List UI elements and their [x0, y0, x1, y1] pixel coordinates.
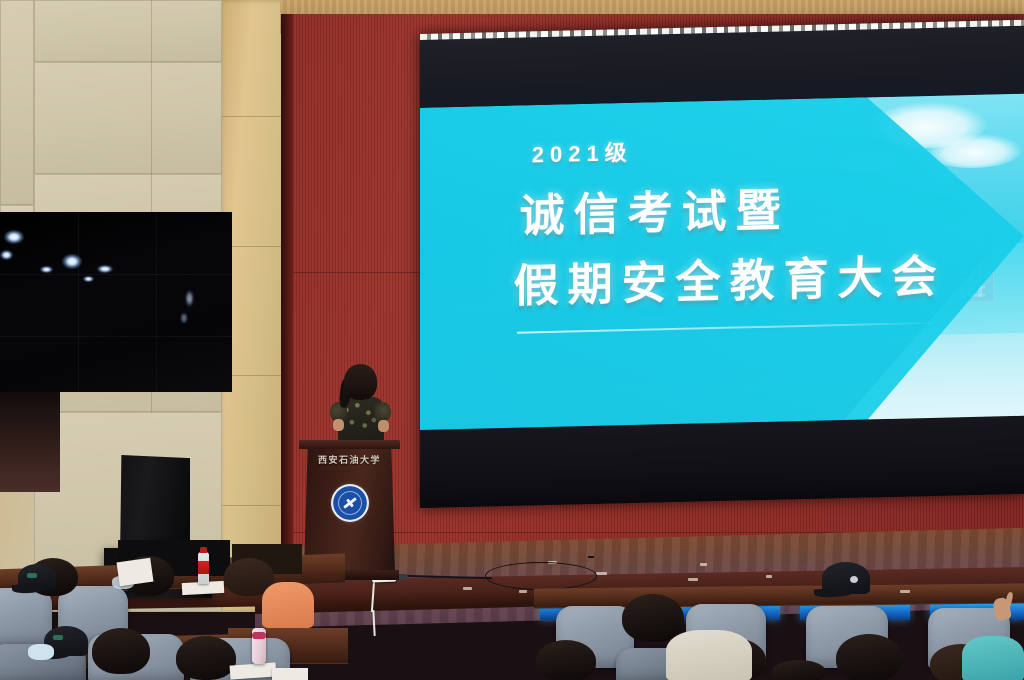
- speaker-hand-right: [378, 420, 389, 432]
- ceiling-light-reflection: [40, 266, 53, 273]
- speaker-person: [330, 364, 392, 446]
- audience-head: [772, 660, 826, 680]
- podium-institution-text: 西安石油大学: [301, 453, 398, 466]
- face-mask: [28, 644, 54, 660]
- audience-head: [176, 636, 236, 680]
- black-stone-panel: [0, 212, 232, 392]
- speaker-hand-left: [333, 419, 344, 431]
- ceiling-light-reflection: [83, 276, 94, 282]
- cap-icon: [18, 564, 56, 590]
- ceiling-light-reflection: [180, 312, 188, 324]
- university-crest-icon: [331, 484, 369, 522]
- led-screen: 2021级 诚信考试暨 假期安全教育大会: [420, 20, 1024, 508]
- water-bottle: [198, 552, 209, 584]
- audience-shirt: [666, 630, 752, 680]
- ceiling-light-reflection: [62, 254, 82, 269]
- audience-head: [92, 628, 150, 674]
- screen-letterbox-bottom: [420, 416, 1024, 508]
- auditorium-photo: 2021级 诚信考试暨 假期安全教育大会: [0, 0, 1024, 680]
- speaker-hair: [344, 364, 377, 400]
- audience-area: [0, 540, 1024, 680]
- audience-shirt: [262, 582, 314, 628]
- audience-shirt: [962, 636, 1024, 680]
- paper-sheet: [116, 558, 153, 586]
- red-wall-shadow-edge: [281, 14, 293, 588]
- ceiling-light-reflection: [0, 250, 13, 260]
- cap-icon: [822, 562, 870, 594]
- ceiling-light-reflection: [4, 230, 24, 244]
- audience-head: [536, 640, 596, 680]
- presentation-slide: 2021级 诚信考试暨 假期安全教育大会: [420, 94, 1024, 431]
- ceiling-light-reflection: [185, 290, 194, 307]
- audience-head: [622, 594, 684, 642]
- lower-left-dark-wall: [0, 392, 60, 492]
- paper-sheet: [272, 668, 308, 680]
- speaker-sleeve-right: [374, 402, 391, 422]
- slide-title-line-1: 诚信考试暨: [520, 174, 790, 245]
- slide-title-line-2: 假期安全教育大会: [514, 239, 946, 314]
- podium-top-surface: [299, 440, 400, 449]
- audience-head: [836, 634, 902, 680]
- ceiling-light-reflection: [97, 265, 113, 273]
- slide-year-label: 2021级: [532, 135, 633, 169]
- thermos-bottle: [252, 628, 266, 664]
